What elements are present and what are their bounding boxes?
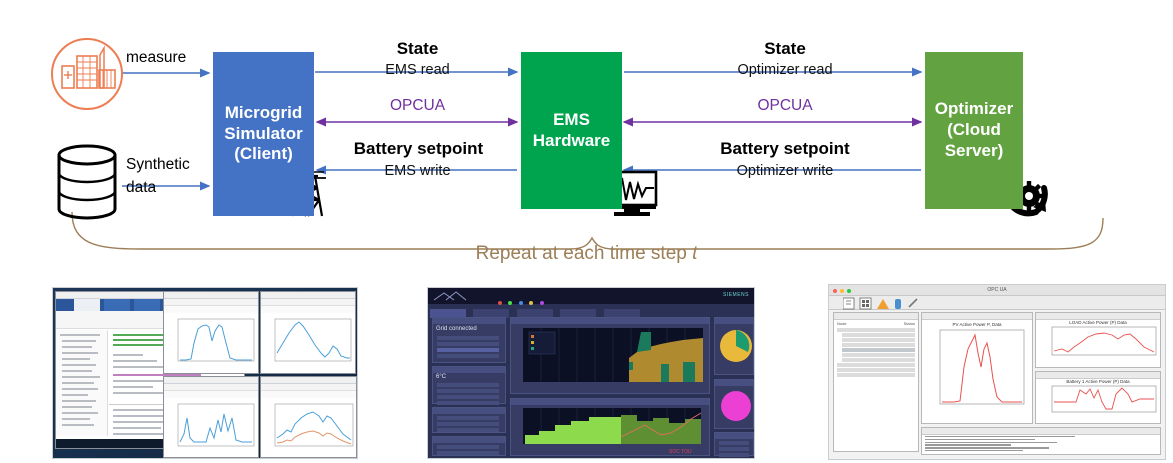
opcua-tree-item[interactable]: [842, 333, 915, 337]
label-synthetic-data-line2: data: [126, 178, 156, 198]
opcua-tree-item[interactable]: [837, 363, 915, 367]
node-simulator-line1: Microgrid: [225, 103, 302, 124]
opcua-load-pane-header: [1036, 313, 1160, 320]
scada-logo-icon: [432, 289, 492, 303]
opcua-tree-col-node: Node: [837, 321, 847, 326]
opcua-pv-chart: [922, 327, 1032, 419]
figure1-titlebar: [164, 292, 258, 299]
matlab-figure-4: [260, 376, 357, 458]
node-ems-hardware[interactable]: EMS Hardware: [521, 52, 622, 209]
figure1-plot: [164, 313, 260, 373]
opcua-tree-item[interactable]: [837, 328, 915, 332]
label-right-state-sub: Optimizer read: [665, 62, 905, 78]
figure3-titlebar: [164, 377, 258, 384]
figure3-plot: [164, 398, 260, 458]
opcua-toolbar-icons[interactable]: [843, 297, 933, 310]
label-left-setpoint-title: Battery setpoint: [316, 139, 521, 159]
figure2-plot: [261, 313, 357, 373]
opcua-console-header: [922, 428, 1160, 435]
opcua-load-chart: [1036, 325, 1160, 365]
opcua-titlebar: OPC UA: [829, 285, 1165, 296]
label-left-protocol: OPCUA: [325, 97, 510, 115]
database-cylinder-icon: [59, 146, 115, 218]
opcua-tree-item[interactable]: [837, 373, 915, 377]
label-synthetic-data-line1: Synthetic: [126, 155, 190, 175]
label-right-setpoint-sub: Optimizer write: [665, 163, 905, 179]
opcua-tree-pane[interactable]: Node Status: [833, 312, 919, 452]
scada-optimization-panel: [432, 407, 506, 433]
label-left-setpoint-sub: EMS write: [325, 163, 510, 179]
opcua-console-pane: [921, 427, 1161, 455]
repeat-caption-symbol: t: [692, 243, 697, 264]
opcua-tree-col-status: Status: [904, 321, 915, 326]
opcua-tree-header: [834, 313, 918, 320]
label-right-protocol: OPCUA: [665, 97, 905, 115]
scada-overview-chart: [511, 324, 709, 393]
diagram-canvas: Microgrid Simulator (Client) EMS Hardwar…: [0, 0, 1173, 463]
label-left-state-title: State: [325, 39, 510, 59]
microgrid-circle-icon: [52, 39, 122, 109]
node-optimizer[interactable]: Optimizer (Cloud Server): [925, 52, 1023, 209]
opcua-pv-chart-pane: PV Active Power P, Data: [921, 312, 1033, 424]
thumbnail-opcua-client[interactable]: OPC UA Node Status: [828, 284, 1166, 460]
scada-weather-value: 6°C: [433, 373, 505, 381]
repeat-caption: Repeat at each time step t: [0, 243, 1173, 265]
matlab-figure-2: [260, 291, 356, 374]
node-optimizer-line1: Optimizer: [935, 99, 1013, 120]
scada-soc-chart: SOC TOU: [511, 405, 709, 455]
scada-load-pie-panel: [714, 379, 754, 429]
scada-status-panel: Grid connected: [432, 317, 506, 363]
node-microgrid-simulator[interactable]: Microgrid Simulator (Client): [213, 52, 314, 216]
scada-reports-panel: [714, 432, 754, 456]
figure2-titlebar: [261, 292, 355, 299]
scada-brand: SIEMENS: [723, 292, 749, 298]
figure4-titlebar: [261, 377, 356, 384]
node-ems-line1: EMS: [553, 110, 590, 131]
opcua-tree-item[interactable]: [837, 368, 915, 372]
node-optimizer-line3: Server): [945, 141, 1004, 162]
node-simulator-line2: Simulator: [224, 124, 302, 145]
scada-energy-mgmt-panel: [432, 436, 506, 456]
scada-header: SIEMENS: [428, 288, 754, 304]
scada-weather-panel: 6°C: [432, 366, 506, 404]
thumbnail-ems-dashboard[interactable]: SIEMENS Grid connected 6°C: [427, 287, 755, 459]
scada-badge: SOC TOU: [669, 449, 692, 455]
opcua-toolbar[interactable]: [829, 296, 1165, 310]
scada-generation-pie-panel: [714, 317, 754, 375]
opcua-tree-item[interactable]: [842, 338, 915, 342]
scada-tabbar[interactable]: [430, 305, 643, 314]
matlab-figure-3: [163, 376, 259, 458]
node-simulator-line3: (Client): [234, 144, 293, 165]
opcua-pv-pane-header: [922, 313, 1032, 320]
thumbnail-matlab-desktop[interactable]: [52, 287, 358, 459]
opcua-pv-chart-title: PV Active Power P, Data: [922, 320, 1032, 327]
node-ems-line2: Hardware: [533, 131, 610, 152]
opcua-tree-item[interactable]: [842, 343, 915, 347]
opcua-battery-chart-pane: Battery 1 Active Power (P) Data: [1035, 371, 1161, 424]
opcua-tree-item[interactable]: [842, 353, 915, 357]
opcua-window-title: OPC UA: [829, 287, 1165, 293]
repeat-caption-text: Repeat at each time step: [476, 243, 693, 264]
figure4-plot: [261, 398, 358, 458]
node-optimizer-line2: (Cloud: [947, 120, 1001, 141]
label-measure: measure: [126, 48, 186, 68]
scada-status-value: Grid connected: [433, 324, 505, 334]
opcua-load-chart-pane: LOAD Active Power (P) Data: [1035, 312, 1161, 368]
scada-overview-chart-panel: [510, 317, 710, 394]
scada-generation-pie: [715, 324, 753, 374]
label-right-state-title: State: [665, 39, 905, 59]
scada-load-pie: [715, 386, 753, 428]
opcua-battery-chart: [1036, 384, 1160, 421]
opcua-tree-item-selected[interactable]: [842, 348, 915, 352]
opcua-battery-pane-header: [1036, 372, 1160, 379]
opcua-tree-item[interactable]: [842, 358, 915, 362]
label-right-setpoint-title: Battery setpoint: [665, 139, 905, 159]
label-left-state-sub: EMS read: [325, 62, 510, 78]
matlab-figure-1: [163, 291, 259, 374]
matlab-file-browser: [56, 330, 108, 436]
scada-soc-chart-panel: SOC TOU: [510, 398, 710, 456]
